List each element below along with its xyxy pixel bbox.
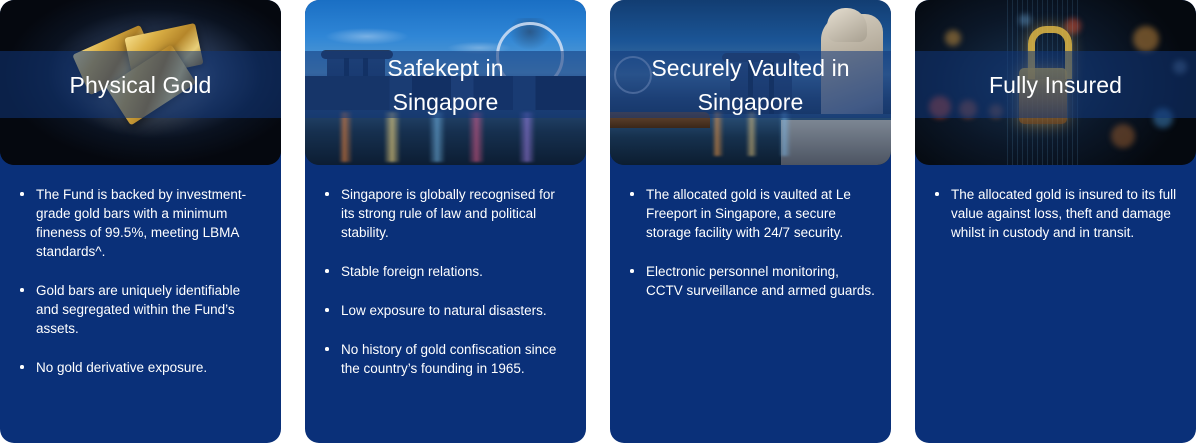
card-title-band: Safekept in Singapore — [305, 51, 586, 118]
list-item: Gold bars are uniquely identifiable and … — [16, 281, 265, 338]
bullet-dot-icon — [630, 269, 634, 273]
card-media-safekept: Safekept in Singapore — [305, 0, 586, 165]
card-title-band: Physical Gold — [0, 51, 281, 118]
list-item-text: The allocated gold is insured to its ful… — [951, 187, 1176, 240]
list-item-text: Singapore is globally recognised for its… — [341, 187, 555, 240]
card-title-band: Fully Insured — [915, 51, 1196, 118]
bullet-dot-icon — [325, 192, 329, 196]
card-title-band: Securely Vaulted in Singapore — [610, 51, 891, 118]
bullet-dot-icon — [325, 347, 329, 351]
card-title: Fully Insured — [979, 68, 1132, 102]
light-reflections-decor — [700, 112, 820, 156]
list-item: Stable foreign relations. — [321, 262, 570, 281]
list-item-text: Low exposure to natural disasters. — [341, 303, 547, 318]
list-item: No gold derivative exposure. — [16, 358, 265, 377]
card-body: Singapore is globally recognised for its… — [305, 165, 586, 443]
bullet-dot-icon — [20, 365, 24, 369]
bullet-list: The allocated gold is insured to its ful… — [931, 185, 1180, 242]
bokeh-light-decor — [1111, 124, 1135, 148]
feature-card-physical-gold[interactable]: Physical Gold The Fund is backed by inve… — [0, 0, 281, 443]
list-item: Singapore is globally recognised for its… — [321, 185, 570, 242]
list-item-text: Gold bars are uniquely identifiable and … — [36, 283, 240, 336]
card-media-fully-insured: Fully Insured — [915, 0, 1196, 165]
card-media-securely-vaulted: Securely Vaulted in Singapore — [610, 0, 891, 165]
bullet-list: Singapore is globally recognised for its… — [321, 185, 570, 378]
card-title: Safekept in Singapore — [377, 51, 513, 119]
bullet-list: The allocated gold is vaulted at Le Free… — [626, 185, 875, 300]
bokeh-light-decor — [1133, 26, 1159, 52]
bullet-dot-icon — [20, 192, 24, 196]
list-item-text: Stable foreign relations. — [341, 264, 483, 279]
feature-card-securely-vaulted[interactable]: Securely Vaulted in Singapore The alloca… — [610, 0, 891, 443]
list-item: The allocated gold is vaulted at Le Free… — [626, 185, 875, 242]
bullet-dot-icon — [630, 192, 634, 196]
bullet-dot-icon — [935, 192, 939, 196]
feature-card-fully-insured[interactable]: Fully Insured The allocated gold is insu… — [915, 0, 1196, 443]
card-title: Securely Vaulted in Singapore — [641, 51, 859, 119]
bullet-dot-icon — [325, 308, 329, 312]
bullet-dot-icon — [20, 288, 24, 292]
bullet-dot-icon — [325, 269, 329, 273]
bokeh-light-decor — [945, 30, 961, 46]
list-item-text: No gold derivative exposure. — [36, 360, 207, 375]
light-reflections-decor — [305, 112, 586, 162]
card-body: The Fund is backed by investment-grade g… — [0, 165, 281, 443]
list-item: Electronic personnel monitoring, CCTV su… — [626, 262, 875, 300]
list-item: No history of gold confiscation since th… — [321, 340, 570, 378]
list-item: The Fund is backed by investment-grade g… — [16, 185, 265, 261]
card-media-physical-gold: Physical Gold — [0, 0, 281, 165]
list-item-text: No history of gold confiscation since th… — [341, 342, 556, 376]
bullet-list: The Fund is backed by investment-grade g… — [16, 185, 265, 377]
feature-cards-row: Physical Gold The Fund is backed by inve… — [0, 0, 1200, 443]
list-item: Low exposure to natural disasters. — [321, 301, 570, 320]
feature-card-safekept-in-singapore[interactable]: Safekept in Singapore Singapore is globa… — [305, 0, 586, 443]
card-title: Physical Gold — [60, 68, 222, 102]
list-item-text: The allocated gold is vaulted at Le Free… — [646, 187, 851, 240]
card-body: The allocated gold is insured to its ful… — [915, 165, 1196, 443]
card-body: The allocated gold is vaulted at Le Free… — [610, 165, 891, 443]
list-item-text: Electronic personnel monitoring, CCTV su… — [646, 264, 875, 298]
list-item: The allocated gold is insured to its ful… — [931, 185, 1180, 242]
list-item-text: The Fund is backed by investment-grade g… — [36, 187, 246, 259]
